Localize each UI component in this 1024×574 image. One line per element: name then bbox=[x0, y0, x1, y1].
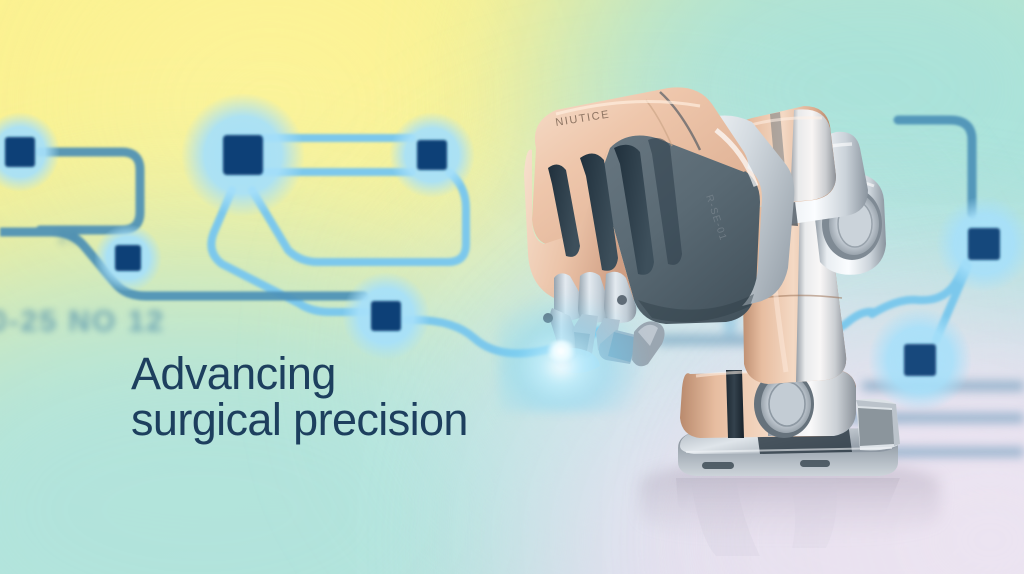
headline-line-2: surgical precision bbox=[131, 397, 468, 443]
instrument-tip-light bbox=[546, 340, 576, 362]
headline-line-1: Advancing bbox=[131, 348, 336, 399]
base-reflection bbox=[676, 478, 900, 556]
page-title: Advancing surgical precision bbox=[131, 351, 468, 444]
surgical-robot-arm: NIUTICE R-SE-01 bbox=[0, 0, 1024, 574]
hero-banner: 0-25 NO 12 25 bbox=[0, 0, 1024, 574]
